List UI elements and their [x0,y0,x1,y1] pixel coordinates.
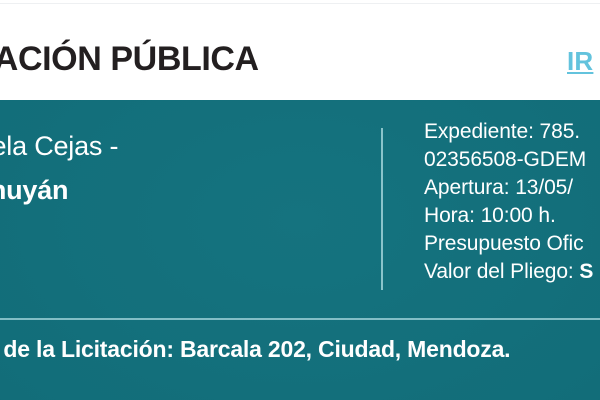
tender-panel: lización Hijuela Cejas - ano. Río Tunuyá… [0,100,600,400]
detail-expediente-continued: 02356508-GDEM [424,146,600,174]
page-root: A LICITACIÓN PÚBLICA IR lización Hijuela… [0,0,600,400]
detail-valor-pliego-label: Valor del Pliego: [424,260,579,283]
tender-details: Expediente: 785. 02356508-GDEM Apertura:… [424,118,600,286]
detail-presupuesto-oficial: Presupuesto Ofic [424,230,600,258]
panel-horizontal-divider [0,318,600,320]
page-title: A LICITACIÓN PÚBLICA [0,38,259,80]
detail-valor-pliego: Valor del Pliego: S [424,258,600,286]
tender-description-river-name: Río Tunuyán [0,175,68,205]
detail-hora: Hora: 10:00 h. [424,202,600,230]
detail-valor-pliego-value: S [579,260,593,283]
tender-venue: gar de la Licitación: Barcala 202, Ciuda… [0,333,510,365]
tender-description-line-2: ano. Río Tunuyán [0,168,370,212]
page-title-emphasis: LICITACIÓN PÚBLICA [0,40,259,78]
detail-apertura: Apertura: 13/05/ [424,174,600,202]
panel-vertical-divider [381,128,383,290]
header-action-link[interactable]: IR [567,44,593,78]
tender-description-line-1: lización Hijuela Cejas - [0,124,370,168]
header-band: A LICITACIÓN PÚBLICA IR [0,4,600,100]
tender-description: lización Hijuela Cejas - ano. Río Tunuyá… [0,124,370,212]
detail-expediente: Expediente: 785. [424,118,600,146]
